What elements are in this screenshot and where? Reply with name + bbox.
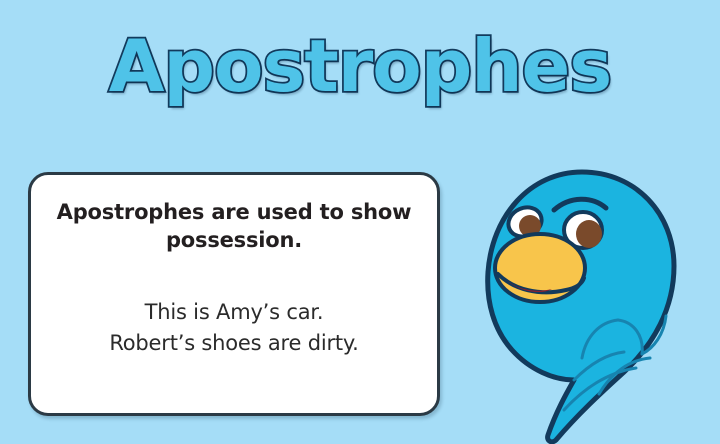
page-title: Apostrophes [109, 30, 611, 102]
example-sentence-2: Robert’s shoes are dirty. [109, 328, 358, 360]
apostrophe-bird-illustration [478, 158, 688, 444]
example-sentence-1: This is Amy’s car. [109, 297, 358, 329]
information-card: Apostrophes are used to show possession.… [28, 172, 440, 416]
bird-beak [495, 234, 585, 302]
examples-list: This is Amy’s car. Robert’s shoes are di… [109, 297, 358, 360]
title-container: Apostrophes [0, 16, 720, 116]
poster-canvas: Apostrophes Apostrophes are used to show… [0, 0, 720, 444]
card-heading: Apostrophes are used to show possession. [53, 199, 415, 255]
